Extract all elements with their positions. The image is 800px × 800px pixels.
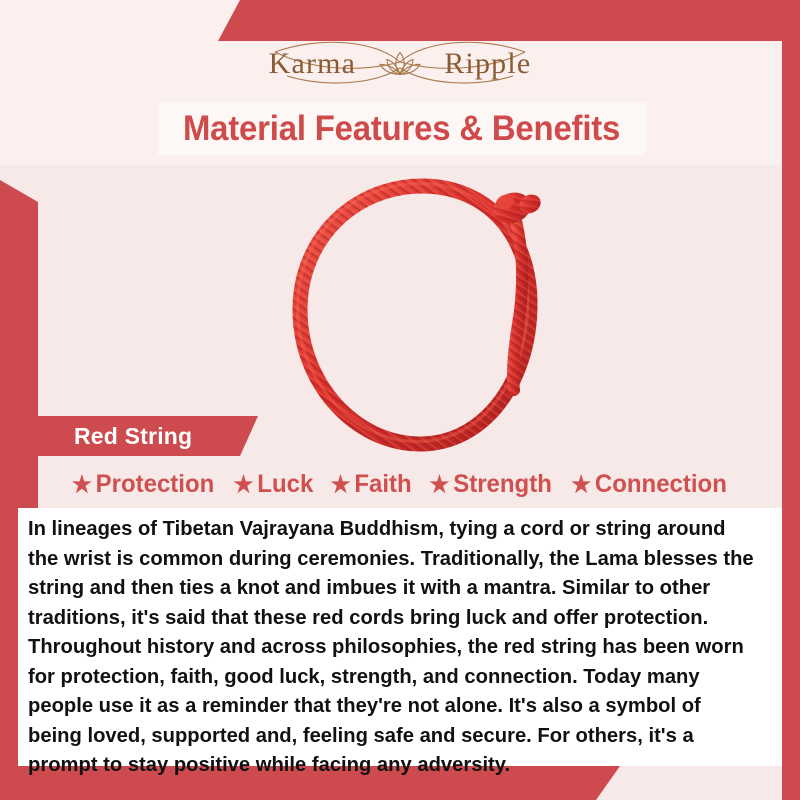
feature-list: ★ Protection ★ Luck ★ Faith ★ Strength ★… [18, 466, 782, 502]
section-ribbon-label: Red String [74, 423, 192, 450]
decor-band-top-right [218, 0, 800, 41]
section-ribbon-red-string: Red String [14, 416, 258, 456]
feature-item-luck: ★ Luck [233, 470, 313, 499]
star-icon: ★ [233, 473, 253, 496]
feature-item-connection: ★ Connection [572, 470, 728, 499]
feature-item-protection: ★ Protection [72, 470, 214, 499]
brand-word-right: Ripple [444, 49, 531, 79]
page-title-box: Material Features & Benefits [158, 102, 646, 155]
brand-word-left: Karma [269, 49, 357, 79]
lotus-flower-icon [379, 47, 421, 79]
feature-item-strength: ★ Strength [430, 470, 552, 499]
brand-logo: Karma Ripple [0, 38, 800, 90]
star-icon: ★ [572, 473, 592, 496]
feature-item-faith: ★ Faith [330, 470, 411, 499]
bracelet-illustration-icon [262, 172, 582, 457]
infographic-page: Karma Ripple Material Features & Benefit… [0, 0, 800, 800]
feature-label: Protection [96, 470, 215, 499]
feature-label: Connection [595, 470, 727, 499]
star-icon: ★ [330, 473, 350, 496]
description-panel: In lineages of Tibetan Vajrayana Buddhis… [18, 508, 782, 766]
feature-label: Luck [257, 470, 313, 499]
feature-label: Strength [453, 470, 552, 499]
decor-band-right-edge [782, 41, 800, 800]
brand-logo-inner: Karma Ripple [235, 38, 565, 90]
product-image-red-string-bracelet [262, 172, 582, 457]
description-text: In lineages of Tibetan Vajrayana Buddhis… [28, 514, 757, 780]
feature-label: Faith [354, 470, 411, 499]
star-icon: ★ [72, 473, 92, 496]
page-title: Material Features & Benefits [183, 109, 620, 149]
star-icon: ★ [430, 473, 450, 496]
